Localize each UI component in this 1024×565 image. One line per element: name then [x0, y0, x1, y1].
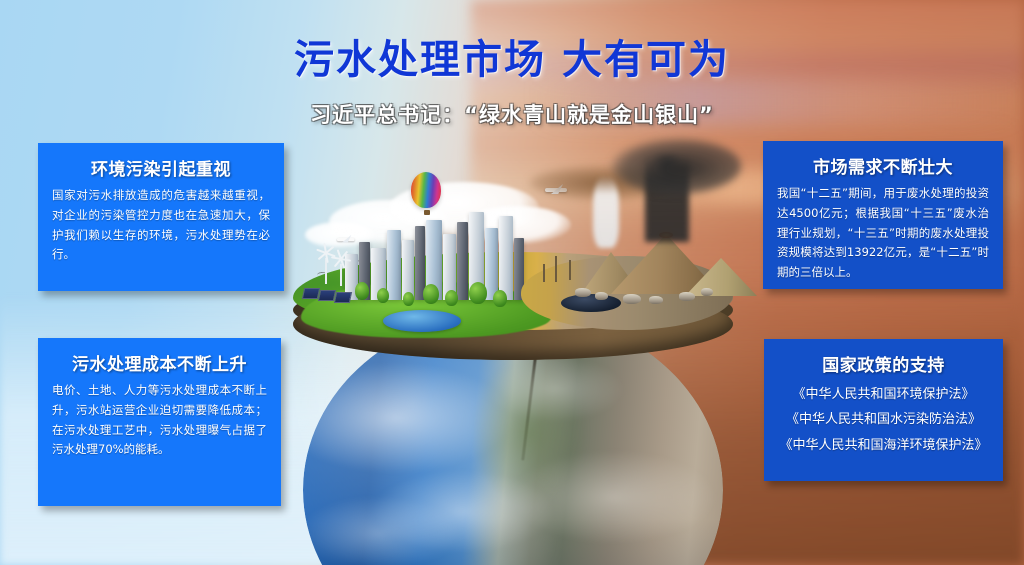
tree: [445, 290, 458, 306]
slide-canvas: 污水处理市场 大有可为 习近平总书记：“绿水青山就是金山银山” 环境污染引起重视…: [0, 0, 1024, 565]
rock: [623, 294, 641, 304]
tree: [469, 282, 487, 304]
page-title: 污水处理市场 大有可为: [0, 27, 1024, 85]
dead-tree: [569, 260, 571, 280]
page-subtitle: 习近平总书记：“绿水青山就是金山银山”: [0, 99, 1024, 129]
rock: [679, 292, 695, 301]
rock: [595, 292, 608, 300]
tree: [423, 284, 439, 304]
policy-law-line-2: 《中华人民共和国水污染防治法》: [778, 407, 989, 432]
building: [402, 240, 414, 300]
black-smoke-cloud: [611, 138, 741, 194]
tree: [403, 292, 414, 306]
info-box-title: 环境污染引起重视: [52, 155, 270, 180]
wind-turbine-icon: [340, 264, 342, 286]
policy-law-line-1: 《中华人民共和国环境保护法》: [778, 382, 989, 407]
policy-law-line-3: 《中华人民共和国海洋环境保护法》: [778, 433, 989, 458]
rock: [649, 296, 663, 304]
info-box-title: 国家政策的支持: [778, 351, 989, 376]
info-box-title: 污水处理成本不断上升: [52, 350, 267, 375]
tree: [355, 282, 369, 300]
polluted-water-pond: [561, 294, 621, 312]
building: [457, 222, 468, 300]
info-box-treatment-cost[interactable]: 污水处理成本不断上升 电价、土地、人力等污水处理成本不断上升，污水站运营企业迫切…: [38, 338, 281, 506]
info-box-title: 市场需求不断壮大: [777, 153, 989, 178]
tree: [493, 290, 507, 307]
wind-turbine-icon: [325, 258, 327, 284]
clean-lake: [383, 310, 461, 332]
rock: [575, 288, 591, 297]
info-box-environment-pollution[interactable]: 环境污染引起重视 国家对污水排放造成的危害越来越重视，对企业的污染管控力度也在急…: [38, 143, 284, 291]
dead-tree: [555, 256, 557, 282]
dead-tree: [543, 264, 545, 282]
white-steam-plume: [593, 176, 619, 248]
info-box-body: 电价、土地、人力等污水处理成本不断上升，污水站运营企业迫切需要降低成本；在污水处…: [52, 381, 267, 460]
rock: [701, 288, 713, 296]
info-box-body: 我国“十二五”期间，用于废水处理的投资达4500亿元；根据我国“十三五”废水治理…: [777, 184, 989, 283]
info-box-body: 国家对污水排放造成的危害越来越重视，对企业的污染管控力度也在急速加大，保护我们赖…: [52, 186, 270, 265]
earth-bottom-shadow: [303, 519, 723, 565]
solar-panel-icon: [334, 292, 352, 303]
building: [499, 216, 513, 300]
info-box-market-demand[interactable]: 市场需求不断壮大 我国“十二五”期间，用于废水处理的投资达4500亿元；根据我国…: [763, 141, 1003, 289]
split-earth-illustration: [293, 160, 733, 512]
tree: [377, 288, 389, 303]
building: [387, 230, 401, 300]
info-box-national-policy[interactable]: 国家政策的支持 《中华人民共和国环境保护法》 《中华人民共和国水污染防治法》 《…: [764, 339, 1003, 481]
building: [485, 228, 498, 300]
